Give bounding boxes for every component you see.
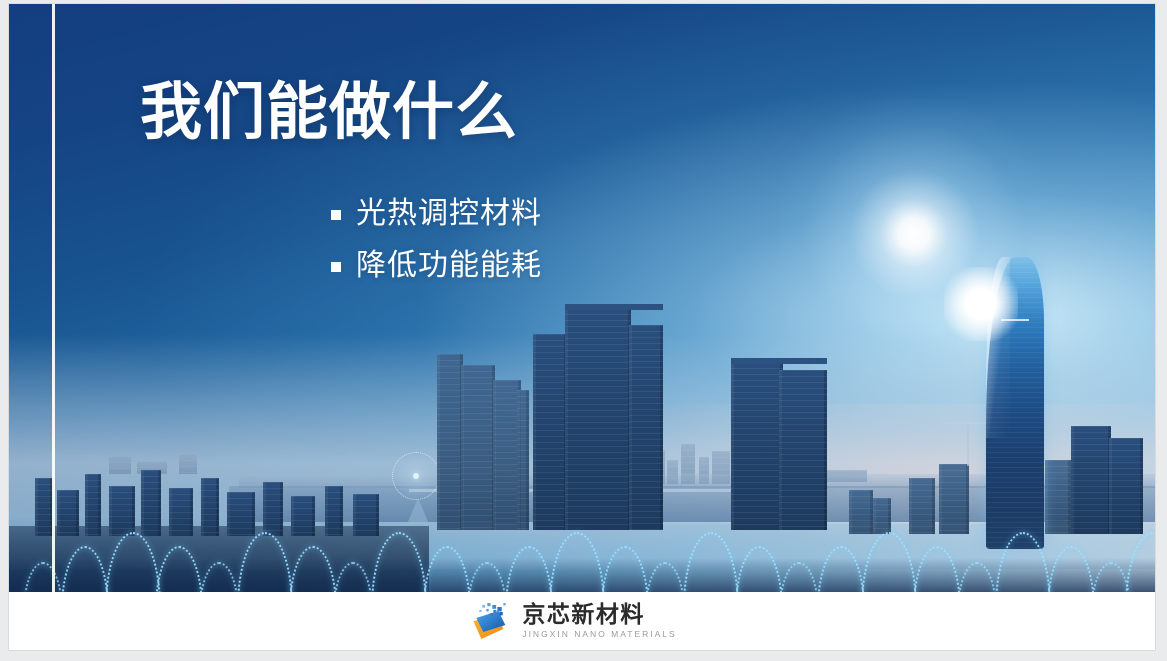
- list-item: 光热调控材料: [331, 193, 542, 236]
- light-arc: [817, 546, 865, 592]
- light-arc: [549, 532, 605, 592]
- tower-signage-band: [1001, 319, 1029, 321]
- company-logo: 京芯新材料 JINGXIN NANO MATERIALS: [467, 601, 676, 641]
- light-arc: [735, 546, 783, 592]
- light-arc: [423, 546, 471, 592]
- square-bullet-icon: [331, 210, 341, 220]
- light-arc: [61, 546, 109, 592]
- light-arc: [505, 546, 553, 592]
- logo-company-en: JINGXIN NANO MATERIALS: [522, 630, 676, 639]
- building: [731, 362, 783, 530]
- light-arc: [155, 546, 203, 592]
- light-arc: [601, 546, 649, 592]
- light-arc: [861, 532, 917, 592]
- light-arc: [1125, 532, 1155, 592]
- light-arc: [995, 532, 1051, 592]
- building-crown: [731, 358, 827, 364]
- logo-wordmark: 京芯新材料 JINGXIN NANO MATERIALS: [522, 603, 676, 639]
- light-arc: [237, 532, 293, 592]
- building: [461, 365, 495, 530]
- logo-company-cn: 京芯新材料: [522, 603, 676, 626]
- bullet-label: 光热调控材料: [356, 193, 542, 236]
- list-item: 降低功能能耗: [331, 245, 542, 288]
- building-far: [109, 456, 131, 474]
- light-arc: [105, 532, 161, 592]
- crane-jib: [943, 422, 987, 424]
- building: [779, 370, 827, 530]
- light-arc: [683, 532, 739, 592]
- light-arc: [371, 532, 427, 592]
- left-accent-rule: [52, 4, 55, 592]
- ferris-wheel-hub: [413, 473, 419, 479]
- light-arc-overlay: [9, 508, 1155, 592]
- bullet-list: 光热调控材料 降低功能能耗: [331, 193, 542, 296]
- square-bullet-icon: [331, 262, 341, 272]
- slide-root: 我们能做什么 光热调控材料 降低功能能耗: [0, 0, 1167, 661]
- building-crown: [565, 304, 663, 310]
- light-arc: [289, 546, 337, 592]
- building-far: [179, 454, 197, 474]
- jingxin-pixel-logo-icon: [467, 601, 513, 641]
- crane-mast: [967, 422, 969, 466]
- ferris-wheel-icon: [392, 452, 440, 500]
- slide-card: 我们能做什么 光热调控材料 降低功能能耗: [8, 3, 1156, 651]
- building-landmark: [565, 308, 631, 530]
- page-title: 我们能做什么: [140, 80, 518, 147]
- bullet-label: 降低功能能耗: [356, 245, 542, 288]
- light-arc: [1047, 546, 1095, 592]
- building: [533, 334, 567, 530]
- curved-skyscraper: [986, 257, 1044, 549]
- building: [437, 354, 463, 530]
- hero-background-image: 我们能做什么 光热调控材料 降低功能能耗: [9, 4, 1155, 592]
- building: [629, 325, 663, 530]
- slide-footer: 京芯新材料 JINGXIN NANO MATERIALS: [9, 592, 1155, 650]
- light-arc: [913, 546, 961, 592]
